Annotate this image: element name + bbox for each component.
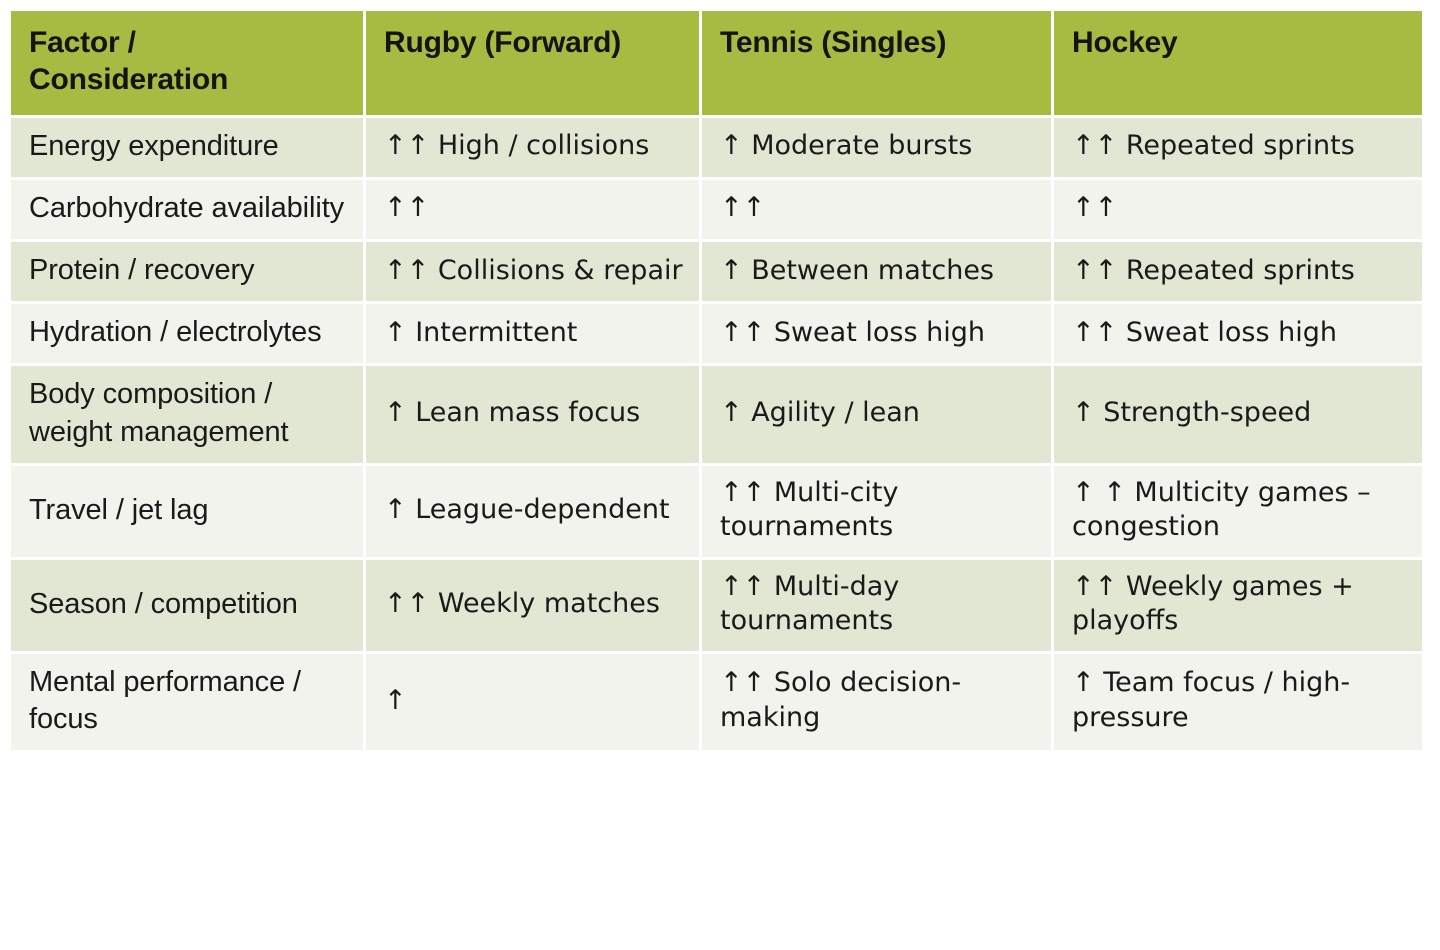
cell-rugby: ↑ League-dependent — [366, 466, 699, 557]
column-header-tennis: Tennis (Singles) — [702, 11, 1051, 115]
column-header-factor: Factor / Consideration — [11, 11, 363, 115]
table-row: Protein / recovery ↑↑ Collisions & repai… — [11, 242, 1422, 301]
column-header-hockey: Hockey — [1054, 11, 1422, 115]
cell-rugby: ↑ Lean mass focus — [366, 366, 699, 462]
table-body: Energy expenditure ↑↑ High / collisions … — [11, 118, 1422, 750]
cell-hockey: ↑↑ Repeated sprints — [1054, 242, 1422, 301]
cell-factor: Protein / recovery — [11, 242, 363, 301]
cell-rugby: ↑↑ High / collisions — [366, 118, 699, 177]
cell-rugby: ↑↑ — [366, 180, 699, 239]
table-row: Season / competition ↑↑ Weekly matches ↑… — [11, 560, 1422, 651]
cell-tennis: ↑↑ Solo decision-making — [702, 654, 1051, 750]
table-row: Energy expenditure ↑↑ High / collisions … — [11, 118, 1422, 177]
cell-rugby: ↑↑ Weekly matches — [366, 560, 699, 651]
column-header-factor-line1: Factor / — [29, 26, 136, 59]
table-row: Travel / jet lag ↑ League-dependent ↑↑ M… — [11, 466, 1422, 557]
cell-factor: Travel / jet lag — [11, 466, 363, 557]
cell-tennis: ↑ Agility / lean — [702, 366, 1051, 462]
sport-nutrition-comparison-table: Factor / Consideration Rugby (Forward) T… — [8, 8, 1425, 753]
cell-factor: Body composition / weight management — [11, 366, 363, 462]
cell-hockey: ↑↑ — [1054, 180, 1422, 239]
cell-tennis: ↑↑ Sweat loss high — [702, 304, 1051, 363]
cell-factor: Carbohydrate availability — [11, 180, 363, 239]
cell-hockey: ↑ ↑ Multicity games – congestion — [1054, 466, 1422, 557]
table-row: Body composition / weight management ↑ L… — [11, 366, 1422, 462]
cell-rugby: ↑ Intermittent — [366, 304, 699, 363]
cell-rugby: ↑ — [366, 654, 699, 750]
header-row: Factor / Consideration Rugby (Forward) T… — [11, 11, 1422, 115]
table-row: Carbohydrate availability ↑↑ ↑↑ ↑↑ — [11, 180, 1422, 239]
table-header: Factor / Consideration Rugby (Forward) T… — [11, 11, 1422, 115]
cell-tennis: ↑↑ Multi-city tournaments — [702, 466, 1051, 557]
cell-tennis: ↑↑ Multi-day tournaments — [702, 560, 1051, 651]
cell-hockey: ↑ Strength-speed — [1054, 366, 1422, 462]
cell-tennis: ↑↑ — [702, 180, 1051, 239]
table-row: Mental performance / focus ↑ ↑↑ Solo dec… — [11, 654, 1422, 750]
cell-factor: Energy expenditure — [11, 118, 363, 177]
cell-tennis: ↑ Moderate bursts — [702, 118, 1051, 177]
cell-factor: Season / competition — [11, 560, 363, 651]
cell-factor: Mental performance / focus — [11, 654, 363, 750]
cell-hockey: ↑↑ Sweat loss high — [1054, 304, 1422, 363]
cell-hockey: ↑↑ Repeated sprints — [1054, 118, 1422, 177]
table-row: Hydration / electrolytes ↑ Intermittent … — [11, 304, 1422, 363]
cell-rugby: ↑↑ Collisions & repair — [366, 242, 699, 301]
cell-tennis: ↑ Between matches — [702, 242, 1051, 301]
cell-hockey: ↑↑ Weekly games + playoffs — [1054, 560, 1422, 651]
column-header-rugby: Rugby (Forward) — [366, 11, 699, 115]
column-header-factor-line2: Consideration — [29, 63, 228, 96]
comparison-table-container: Factor / Consideration Rugby (Forward) T… — [8, 8, 1416, 753]
cell-hockey: ↑ Team focus / high-pressure — [1054, 654, 1422, 750]
cell-factor: Hydration / electrolytes — [11, 304, 363, 363]
